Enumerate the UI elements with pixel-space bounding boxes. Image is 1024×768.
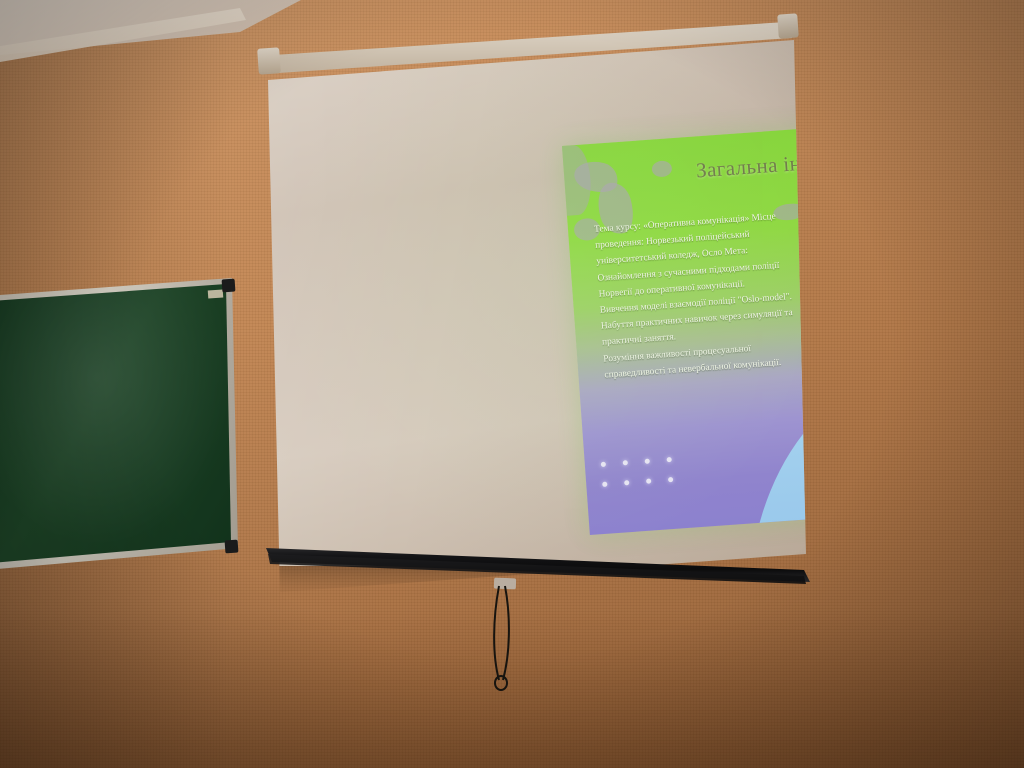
housing-bracket-right <box>777 13 799 38</box>
pull-cord-icon[interactable] <box>489 584 523 692</box>
chalkboard-corner-bottom-right <box>225 540 239 554</box>
slide-paragraph: Тема курсу: «Оперативна комунікація» Міс… <box>594 208 799 303</box>
housing-bracket-left <box>257 47 281 74</box>
chalkboard <box>0 278 251 570</box>
chalkboard-label-tag <box>208 289 224 298</box>
slide-body-text: Тема курсу: «Оперативна комунікація» Міс… <box>594 208 805 384</box>
decorative-blob <box>562 144 593 216</box>
projection-area: Загальна інформація Тема курсу: «Операти… <box>262 36 808 566</box>
chalkboard-corner-top-right <box>222 279 236 293</box>
chalkboard-surface <box>0 278 251 570</box>
classroom-scene: Загальна інформація Тема курсу: «Операти… <box>0 0 1024 768</box>
decorative-blob <box>651 160 672 177</box>
dot-grid-bottom-left-icon <box>601 457 674 487</box>
